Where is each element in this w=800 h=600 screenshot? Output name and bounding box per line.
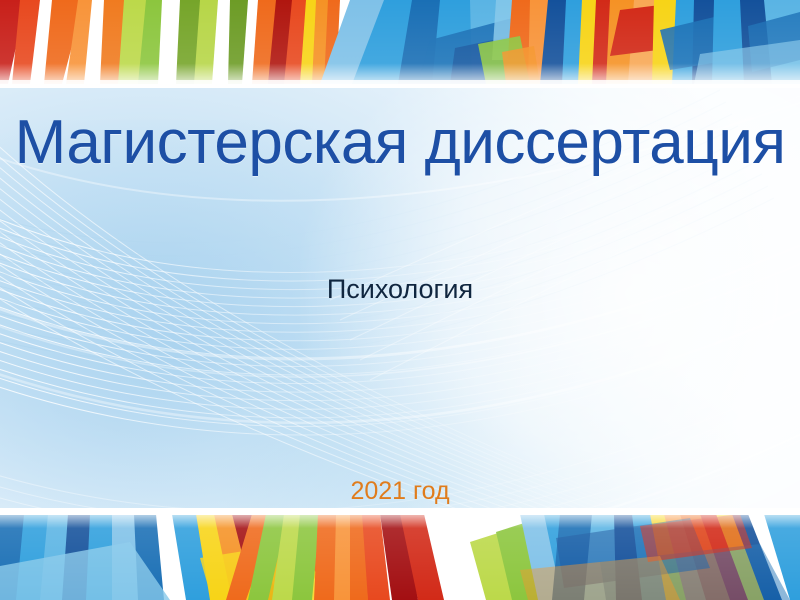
slide-title: Магистерская диссертация [0, 108, 800, 178]
presentation-title-slide: Магистерская диссертация Психология 2021… [0, 0, 800, 600]
colorful-geometric-shards-top [0, 0, 800, 88]
slide-subtitle: Психология [0, 272, 800, 306]
colorful-geometric-shards-bottom [0, 508, 800, 600]
slide-year: 2021 год [0, 476, 800, 507]
